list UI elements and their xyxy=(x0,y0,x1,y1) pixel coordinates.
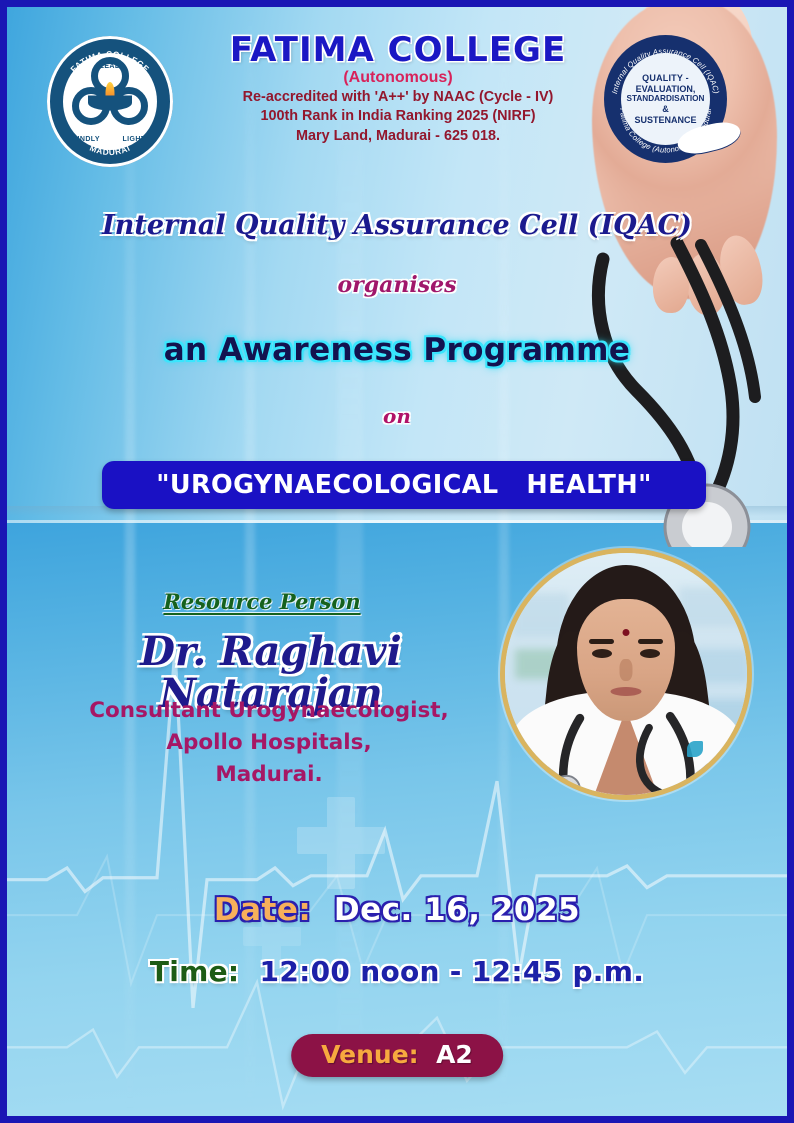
organises-label: organises xyxy=(7,272,787,298)
coat-logo xyxy=(687,741,703,757)
poster-frame: FATIMA COLLEGE MADURAI LEAD KINDLY LIGHT xyxy=(7,7,787,1116)
time-value: 12:00 noon - 12:45 p.m. xyxy=(260,955,645,988)
time-row: Time: 12:00 noon - 12:45 p.m. xyxy=(7,955,787,988)
venue-value: A2 xyxy=(436,1040,473,1069)
organiser-name: Internal Quality Assurance Cell (IQAC) xyxy=(7,210,787,241)
topic-banner: "UROGYNAECOLOGICAL HEALTH" xyxy=(102,461,706,509)
stethoscope-on-coat xyxy=(505,553,747,795)
time-label: Time: xyxy=(150,955,250,988)
on-label: on xyxy=(7,404,787,428)
designation: Consultant Urogynaecologist, xyxy=(59,695,479,727)
date-row: Date: Dec. 16, 2025 xyxy=(7,892,787,928)
resource-person-affiliation: Consultant Urogynaecologist, Apollo Hosp… xyxy=(59,695,479,790)
hospital: Apollo Hospitals, xyxy=(59,727,479,759)
programme-title: an Awareness Programme xyxy=(7,332,787,368)
date-label: Date: xyxy=(214,892,323,928)
venue-badge: Venue: A2 xyxy=(291,1034,503,1077)
resource-person-photo xyxy=(500,548,752,800)
content-block: Internal Quality Assurance Cell (IQAC) o… xyxy=(7,7,787,1116)
venue-label: Venue: xyxy=(321,1040,427,1069)
date-value: Dec. 16, 2025 xyxy=(334,892,580,928)
resource-person-label: Resource Person xyxy=(67,589,457,614)
poster-root: FATIMA COLLEGE MADURAI LEAD KINDLY LIGHT xyxy=(0,0,794,1123)
topic-title: "UROGYNAECOLOGICAL HEALTH" xyxy=(156,470,652,500)
city: Madurai. xyxy=(59,759,479,791)
